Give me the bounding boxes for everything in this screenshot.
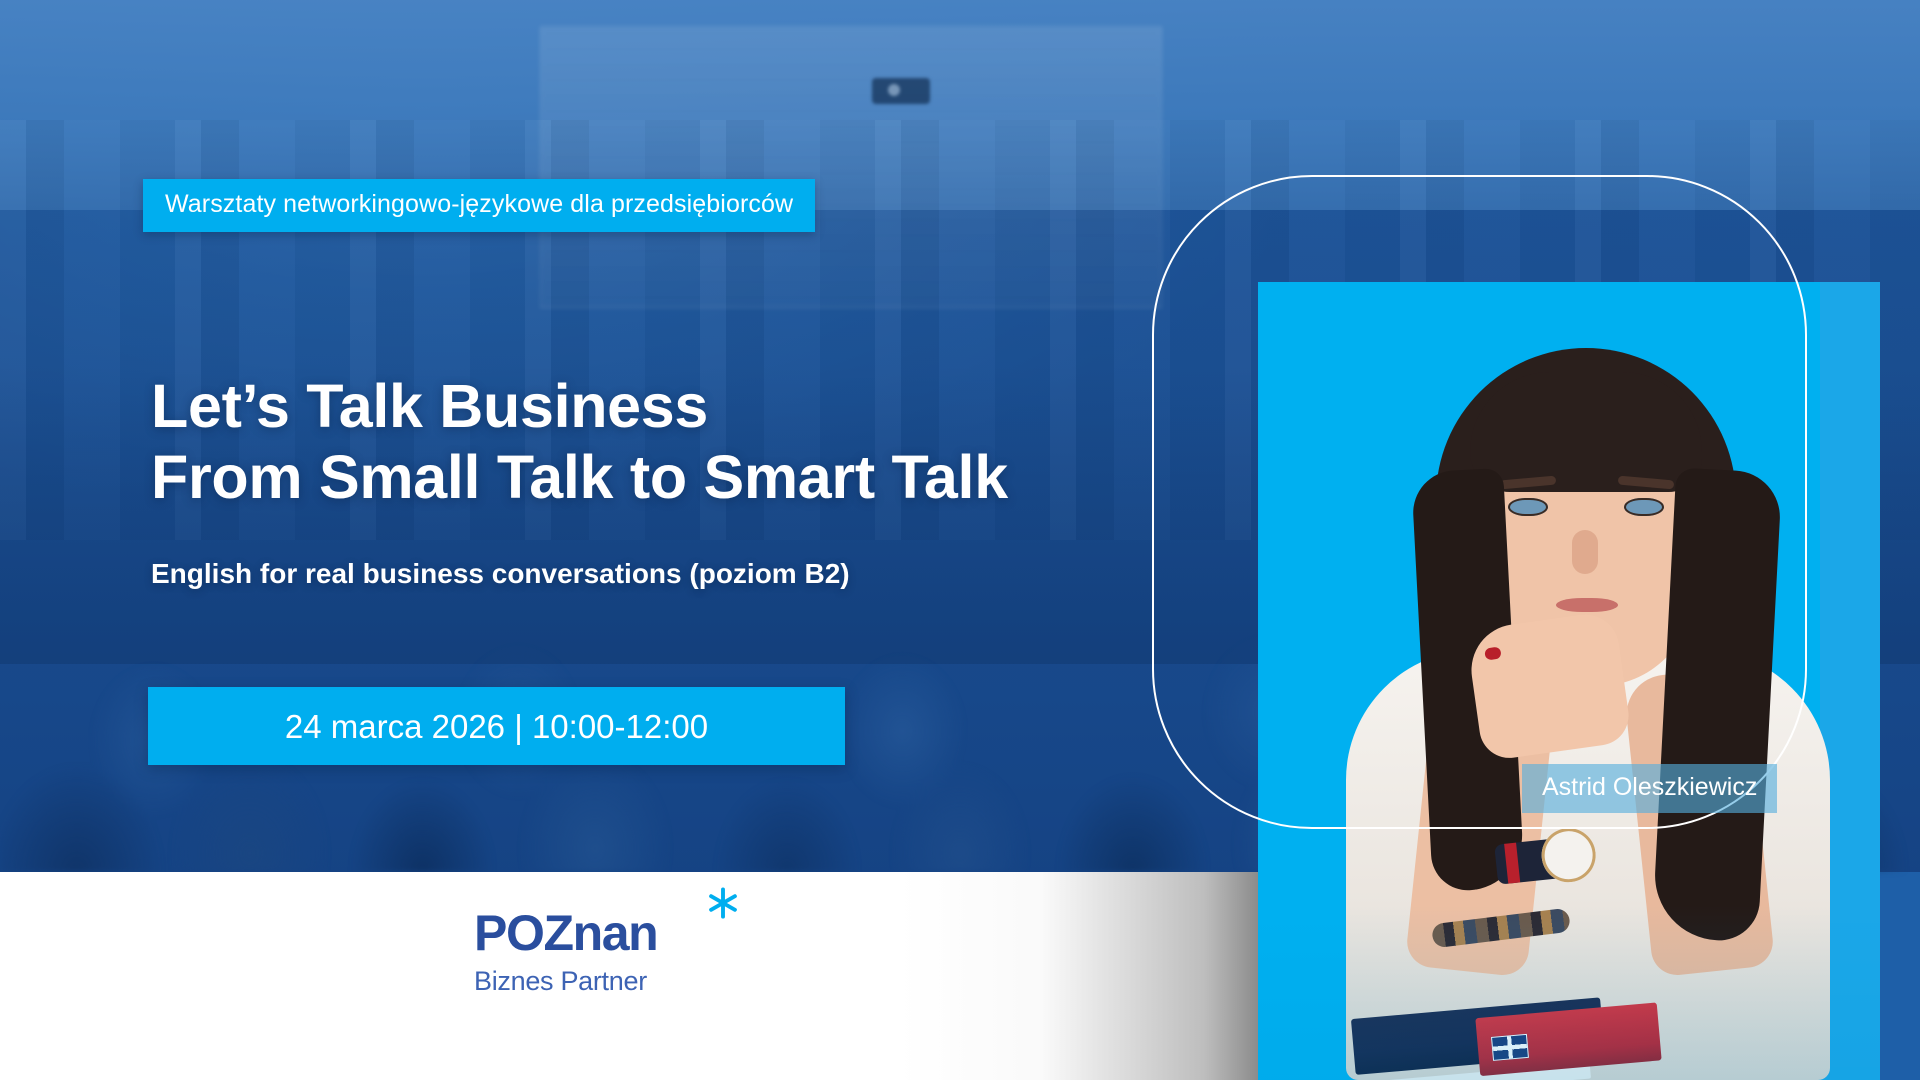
union-jack-icon <box>1491 1034 1529 1061</box>
portrait-fringe <box>1470 372 1702 492</box>
watch-strap-stripe <box>1504 843 1520 884</box>
footer-right-shadow <box>898 872 1258 1080</box>
portrait-hands <box>1466 610 1633 762</box>
subheadline: English for real business conversations … <box>151 557 850 591</box>
logo-word-poz: POZ <box>474 905 573 961</box>
portrait-mouth <box>1556 598 1618 612</box>
kicker-text: Warsztaty networkingowo-językowe dla prz… <box>165 192 793 217</box>
headline-line-1: Let’s Talk Business <box>151 371 1151 442</box>
portrait-nose <box>1572 530 1598 574</box>
logo-tagline: Biznes Partner <box>474 968 714 995</box>
event-poster: Warsztaty networkingowo-językowe dla prz… <box>0 0 1920 1080</box>
date-time-text: 24 marca 2026 | 10:00-12:00 <box>285 710 708 743</box>
headline-block: Let’s Talk Business From Small Talk to S… <box>151 371 1151 513</box>
portrait-right-eye <box>1624 498 1664 516</box>
headline-line-2: From Small Talk to Smart Talk <box>151 442 1151 513</box>
kicker-badge: Warsztaty networkingowo-językowe dla prz… <box>143 179 815 232</box>
speaker-name-text: Astrid Oleszkiewicz <box>1542 775 1757 800</box>
speaker-name-tag: Astrid Oleszkiewicz <box>1522 764 1777 813</box>
logo-word-nan: nan <box>573 905 658 961</box>
speaker-photo-panel <box>1258 282 1880 1080</box>
speaker-portrait <box>1328 320 1848 1080</box>
poznan-biznes-partner-logo: POZnan Biznes Partner <box>474 908 714 995</box>
portrait-wristwatch <box>1494 835 1590 884</box>
date-time-badge: 24 marca 2026 | 10:00-12:00 <box>148 687 845 765</box>
asterisk-icon <box>706 886 740 920</box>
portrait-nail <box>1484 646 1502 660</box>
footer-band: POZnan Biznes Partner <box>0 872 1258 1080</box>
portrait-left-eye <box>1508 498 1548 516</box>
logo-wordmark: POZnan <box>474 908 714 958</box>
